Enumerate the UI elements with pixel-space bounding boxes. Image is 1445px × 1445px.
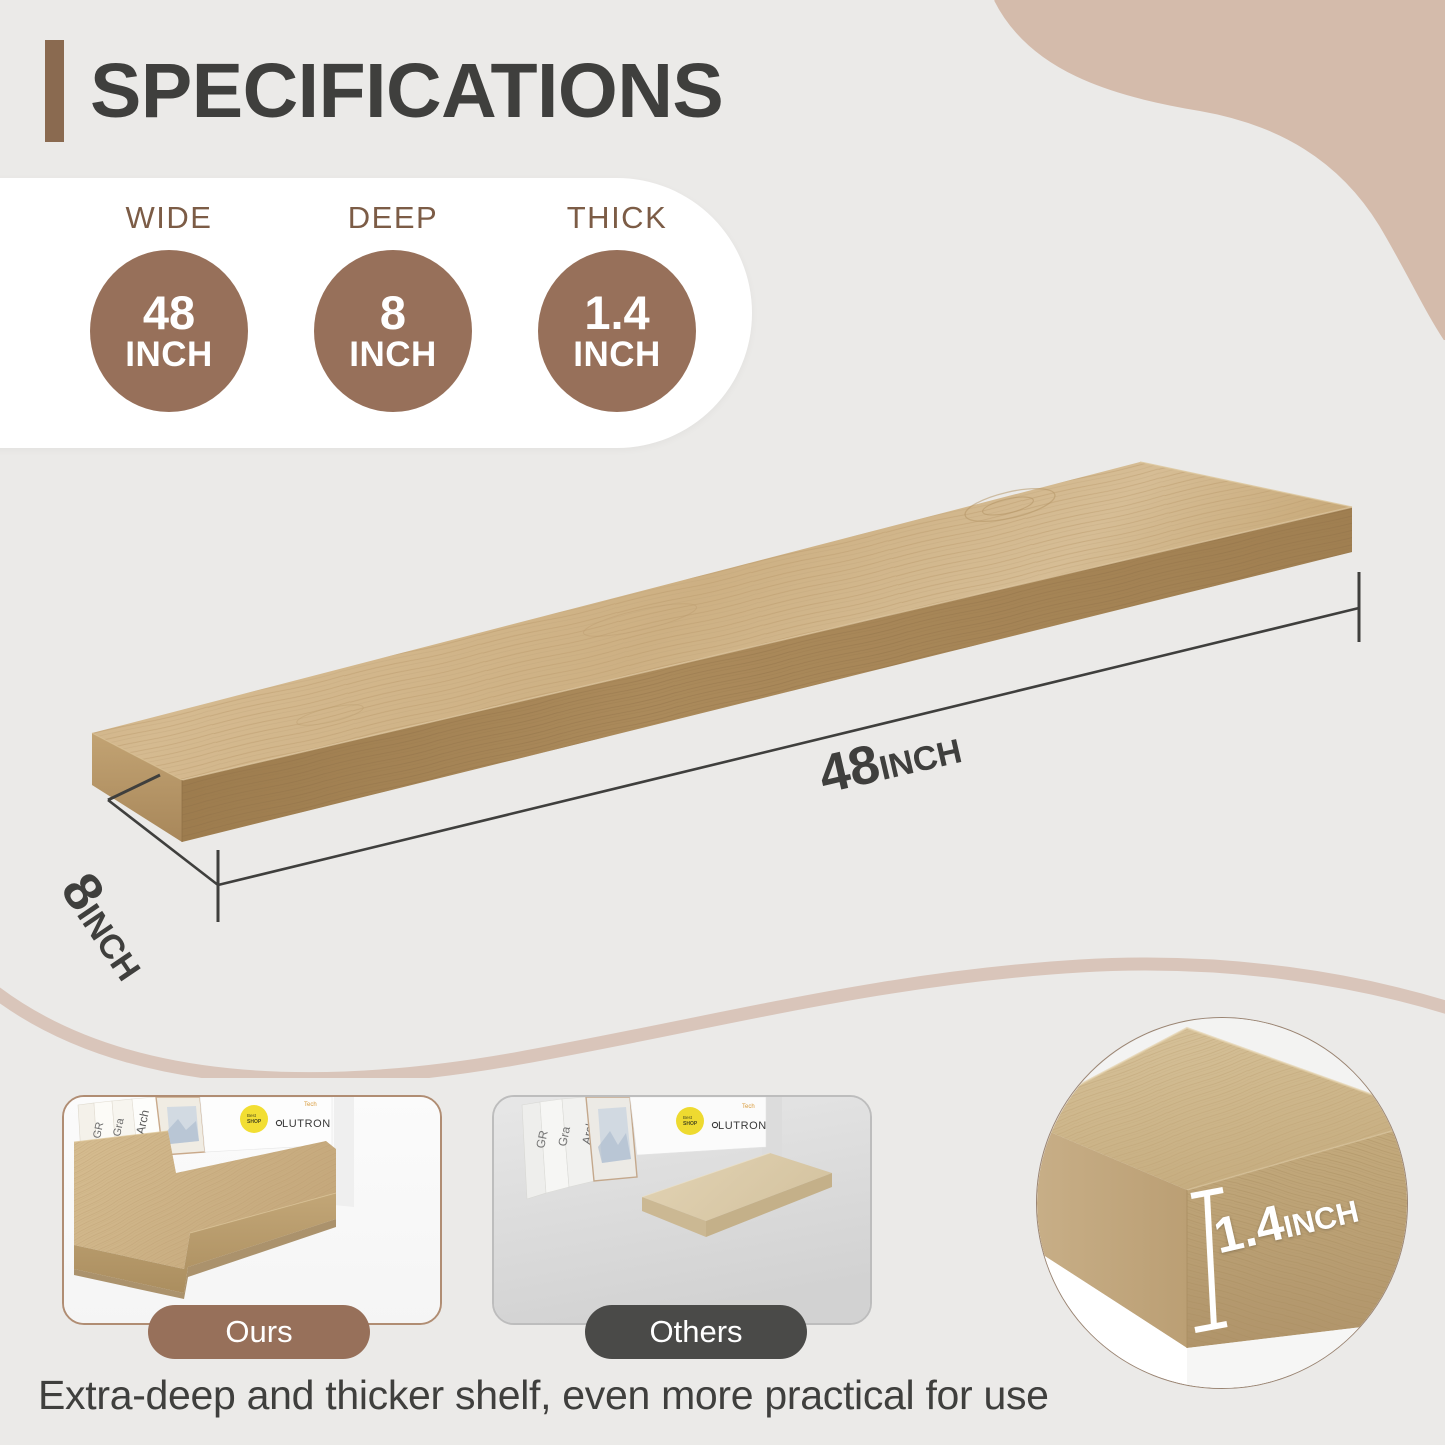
svg-text:SHOP: SHOP (247, 1119, 262, 1125)
product-box: Best SHOP LUTRON Tech (200, 1097, 332, 1152)
spec-item-thick: THICK 1.4 INCH (538, 178, 696, 412)
page-title: SPECIFICATIONS (90, 53, 723, 130)
svg-text:SHOP: SHOP (683, 1121, 698, 1127)
others-shelf-photo: GR Gra Arch Best SHOP LUTRON Tech (494, 1097, 872, 1325)
product-spec-infographic: SPECIFICATIONS WIDE 48 INCH DEEP 8 INCH … (0, 0, 1445, 1445)
title-accent-bar (45, 40, 64, 142)
ours-shelf-photo: GR Gra Arch Best SHOP LUTRON Tech (64, 1097, 442, 1325)
spec-caption-wide: WIDE (126, 200, 213, 236)
spec-value-wide: 48 (143, 289, 195, 337)
spec-unit-deep: INCH (349, 337, 437, 373)
svg-text:Best: Best (683, 1115, 693, 1120)
svg-text:Tech: Tech (742, 1104, 755, 1110)
svg-text:Tech: Tech (304, 1102, 317, 1108)
svg-text:Best: Best (247, 1113, 257, 1118)
width-dimension-value: 48 (813, 732, 885, 806)
svg-text:LUTRON: LUTRON (282, 1118, 331, 1130)
page-header: SPECIFICATIONS (45, 40, 723, 142)
comparison-card-others: GR Gra Arch Best SHOP LUTRON Tech (492, 1095, 872, 1325)
spec-badge-thick: 1.4 INCH (538, 250, 696, 412)
spec-unit-thick: INCH (573, 337, 661, 373)
spec-badge-wide: 48 INCH (90, 250, 248, 412)
comparison-label-others: Others (585, 1305, 807, 1359)
spec-caption-deep: DEEP (348, 200, 438, 236)
comparison-label-ours: Ours (148, 1305, 370, 1359)
spec-value-deep: 8 (380, 289, 406, 337)
specifications-panel: WIDE 48 INCH DEEP 8 INCH THICK 1.4 INCH (0, 178, 752, 448)
decorative-blob-shape (780, 0, 1445, 340)
spec-caption-thick: THICK (567, 200, 668, 236)
spec-value-thick: 1.4 (584, 289, 649, 337)
spec-item-wide: WIDE 48 INCH (90, 178, 248, 412)
bottom-caption: Extra-deep and thicker shelf, even more … (38, 1372, 1049, 1419)
product-box: Best SHOP LUTRON Tech (630, 1097, 767, 1155)
spec-unit-wide: INCH (125, 337, 213, 373)
shelf-dimension-diagram (0, 430, 1445, 990)
spec-item-deep: DEEP 8 INCH (314, 178, 472, 412)
svg-text:LUTRON: LUTRON (718, 1120, 767, 1132)
comparison-card-ours: GR Gra Arch Best SHOP LUTRON Tech (62, 1095, 442, 1325)
spec-badge-deep: 8 INCH (314, 250, 472, 412)
